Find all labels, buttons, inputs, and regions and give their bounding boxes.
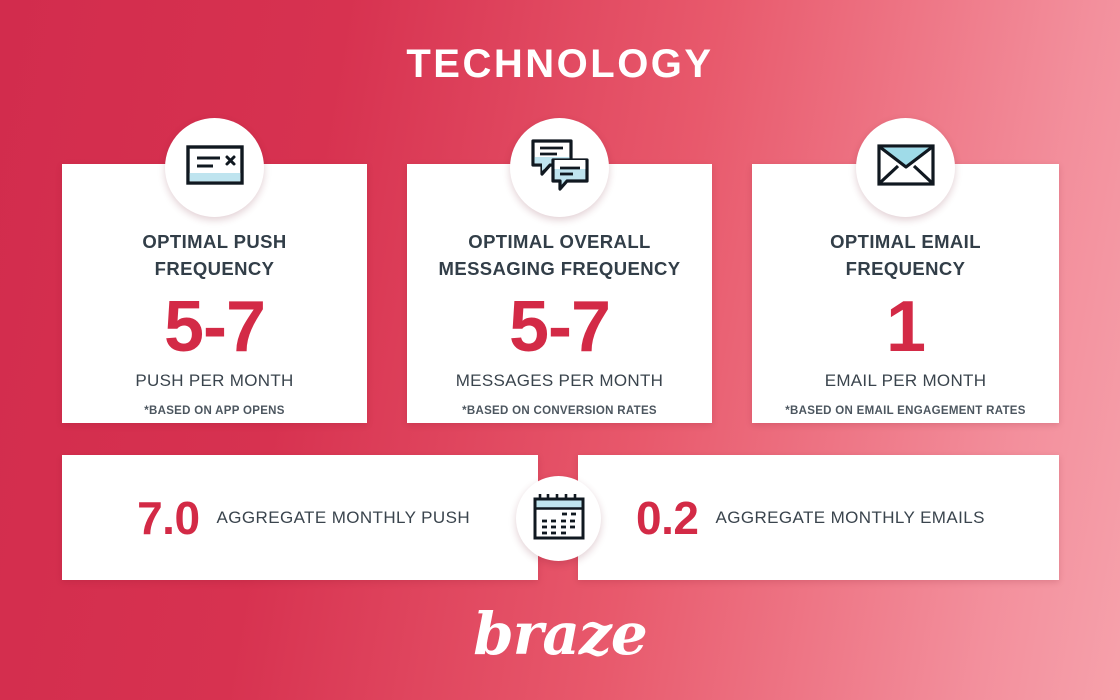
push-notification-icon-circle	[165, 118, 264, 217]
card-heading-line2: FREQUENCY	[68, 255, 361, 282]
card-unit: MESSAGES PER MONTH	[413, 370, 706, 392]
card-heading: OPTIMAL EMAIL FREQUENCY	[758, 228, 1053, 282]
card-heading-line1: OPTIMAL OVERALL	[468, 231, 650, 252]
speech-bubbles-icon-circle	[510, 118, 609, 217]
aggregate-panel-email: 0.2 AGGREGATE MONTHLY EMAILS	[578, 455, 1059, 580]
card-value: 5-7	[68, 288, 361, 366]
card-note: *BASED ON CONVERSION RATES	[413, 403, 706, 419]
infographic-canvas: TECHNOLOGY OPTIMAL PUSH FREQUENCY 5-7 PU…	[0, 0, 1120, 700]
card-heading-line2: FREQUENCY	[758, 255, 1053, 282]
card-unit: PUSH PER MONTH	[68, 370, 361, 392]
braze-logo: braze	[0, 602, 1120, 666]
calendar-icon-circle	[516, 476, 601, 561]
card-heading: OPTIMAL OVERALL MESSAGING FREQUENCY	[413, 228, 706, 282]
card-heading-line1: OPTIMAL EMAIL	[830, 231, 981, 252]
card-unit: EMAIL PER MONTH	[758, 370, 1053, 392]
aggregate-label-email: AGGREGATE MONTHLY EMAILS	[715, 508, 984, 528]
speech-bubbles-icon	[531, 139, 589, 196]
card-note: *BASED ON EMAIL ENGAGEMENT RATES	[758, 403, 1053, 419]
calendar-icon	[533, 492, 585, 545]
braze-logo-text: braze	[473, 600, 647, 668]
card-heading-line1: OPTIMAL PUSH	[142, 231, 286, 252]
card-value: 1	[758, 288, 1053, 366]
card-heading-line2: MESSAGING FREQUENCY	[413, 255, 706, 282]
card-value: 5-7	[413, 288, 706, 366]
push-notification-icon	[186, 145, 244, 190]
card-note: *BASED ON APP OPENS	[68, 403, 361, 419]
aggregate-panel-push: 7.0 AGGREGATE MONTHLY PUSH	[62, 455, 538, 580]
aggregate-value-push: 7.0	[137, 493, 199, 543]
envelope-icon-circle	[856, 118, 955, 217]
aggregate-label-push: AGGREGATE MONTHLY PUSH	[217, 508, 470, 528]
aggregate-value-email: 0.2	[636, 493, 698, 543]
page-title: TECHNOLOGY	[0, 40, 1120, 88]
card-heading: OPTIMAL PUSH FREQUENCY	[68, 228, 361, 282]
envelope-icon	[877, 144, 935, 191]
